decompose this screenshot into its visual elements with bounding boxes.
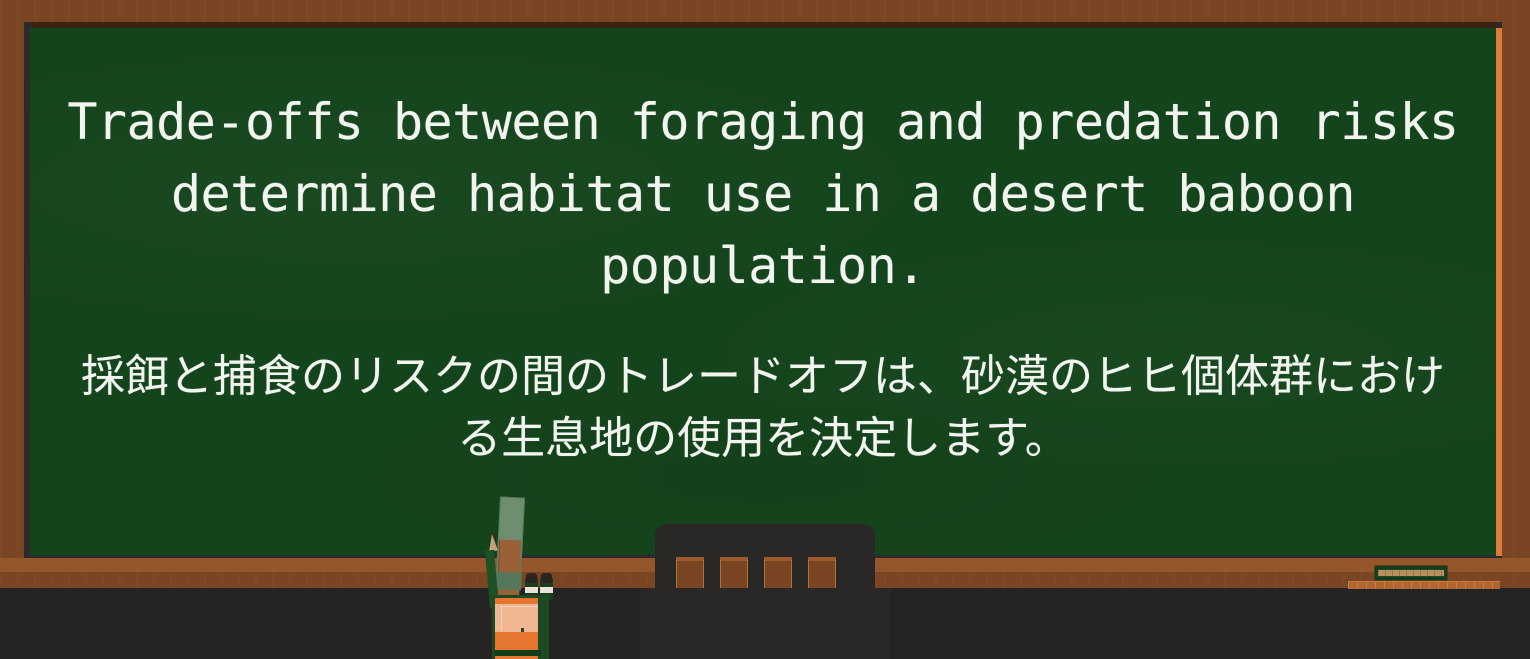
ruler-tip xyxy=(495,571,522,590)
pencil-tip xyxy=(488,534,498,552)
brush-ferrule xyxy=(525,587,538,593)
brush-head xyxy=(541,573,552,583)
cup-foot xyxy=(495,650,541,656)
brush-ferrule xyxy=(540,587,553,593)
pencil-cup-group xyxy=(0,0,1530,659)
brush-head xyxy=(526,573,537,583)
cup-inner-line xyxy=(501,606,540,630)
chalkboard-scene: Trade-offs between foraging and predatio… xyxy=(0,0,1530,659)
